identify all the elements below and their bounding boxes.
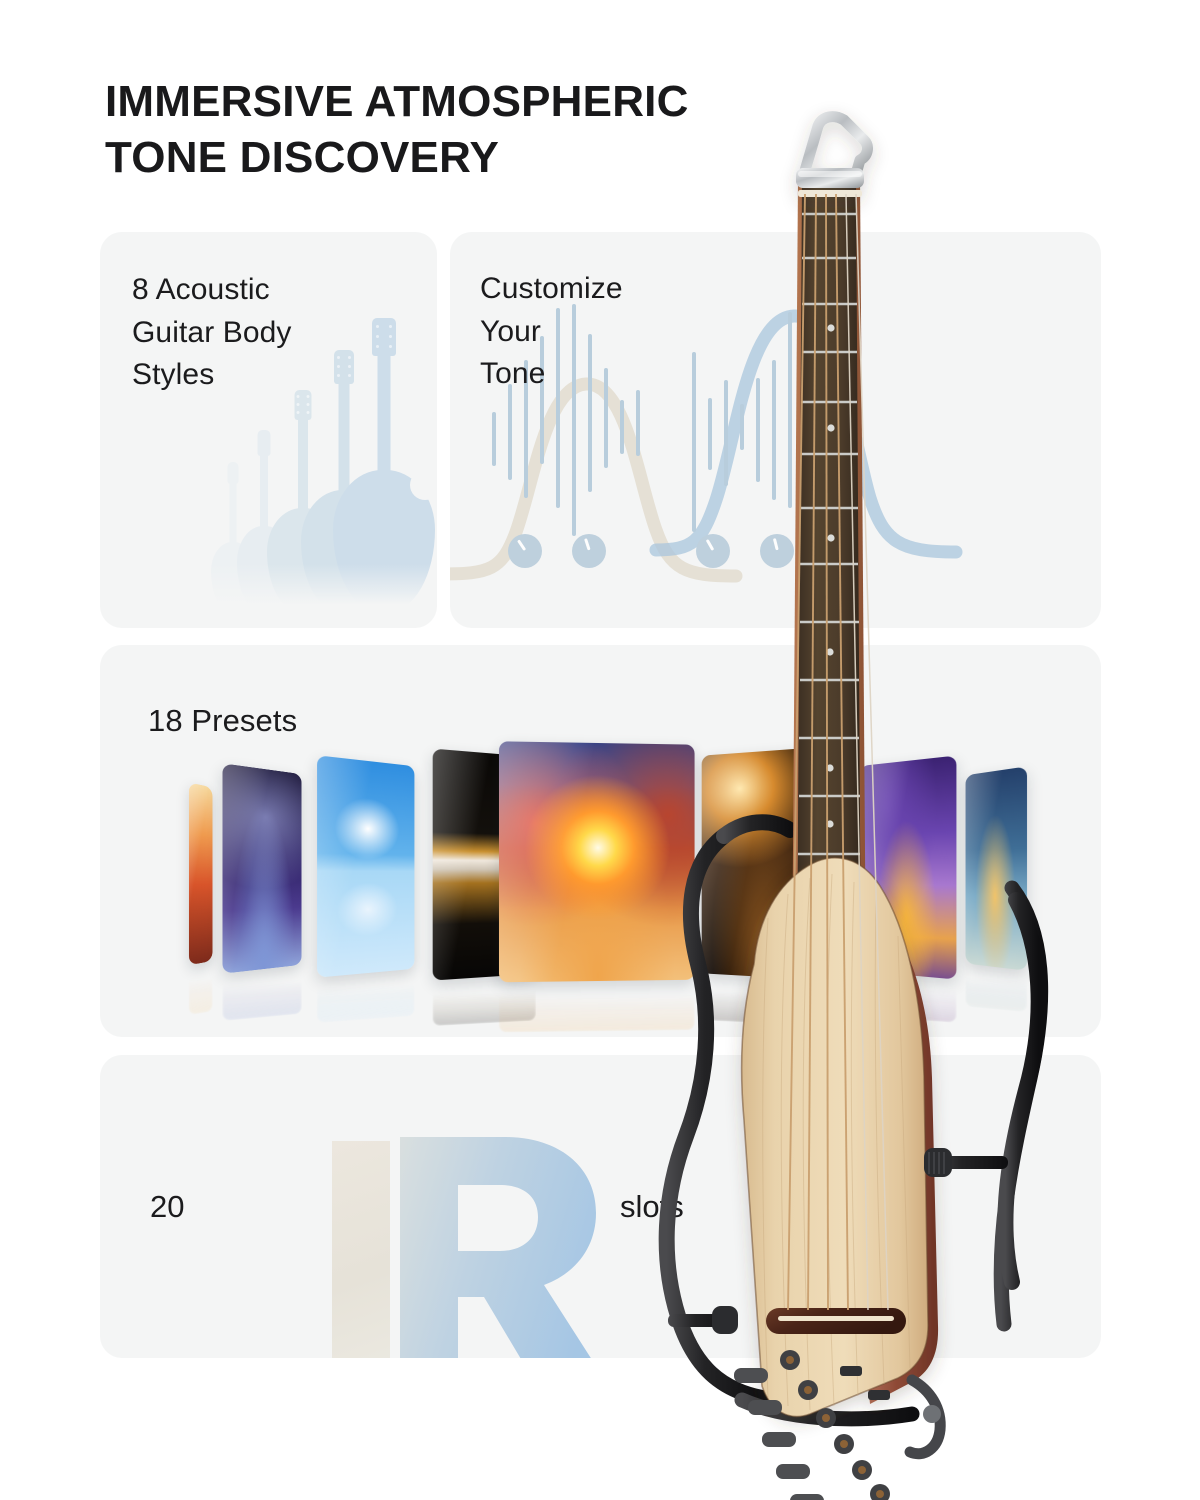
card-body-styles-title: 8 Acoustic Guitar Body Styles xyxy=(132,269,292,397)
preset-thumbnail[interactable] xyxy=(189,782,213,965)
preset-reflection xyxy=(189,964,213,1014)
card-customize-tone-title: Customize Your Tone xyxy=(480,268,623,396)
preset-reflection xyxy=(317,972,414,1023)
eq-bar xyxy=(508,384,512,480)
tone-knob-icon[interactable] xyxy=(508,534,542,568)
ir-letter-i xyxy=(332,1141,390,1358)
preset-thumbnail[interactable] xyxy=(317,755,414,977)
eq-bar xyxy=(492,412,496,466)
preset-thumbnail[interactable] xyxy=(222,763,301,973)
card-presets-title: 18 Presets xyxy=(148,699,297,743)
frame-knob-post[interactable] xyxy=(924,1148,1008,1177)
preset-reflection xyxy=(222,968,301,1021)
tone-knob-icon[interactable] xyxy=(572,534,606,568)
headline-line-1: IMMERSIVE ATMOSPHERIC xyxy=(105,77,689,126)
guitar-illustration xyxy=(612,118,1112,1478)
product-feature-page: IMMERSIVE ATMOSPHERIC TONE DISCOVERY 8 A… xyxy=(0,0,1200,1500)
card-body-styles: 8 Acoustic Guitar Body Styles xyxy=(100,232,437,628)
guitar-bridge xyxy=(766,1308,906,1334)
ir-letter-r xyxy=(400,1137,612,1358)
ir-count-label: 20 xyxy=(150,1189,184,1225)
product-guitar-image xyxy=(612,118,1112,1478)
headstock-loop xyxy=(796,117,867,197)
